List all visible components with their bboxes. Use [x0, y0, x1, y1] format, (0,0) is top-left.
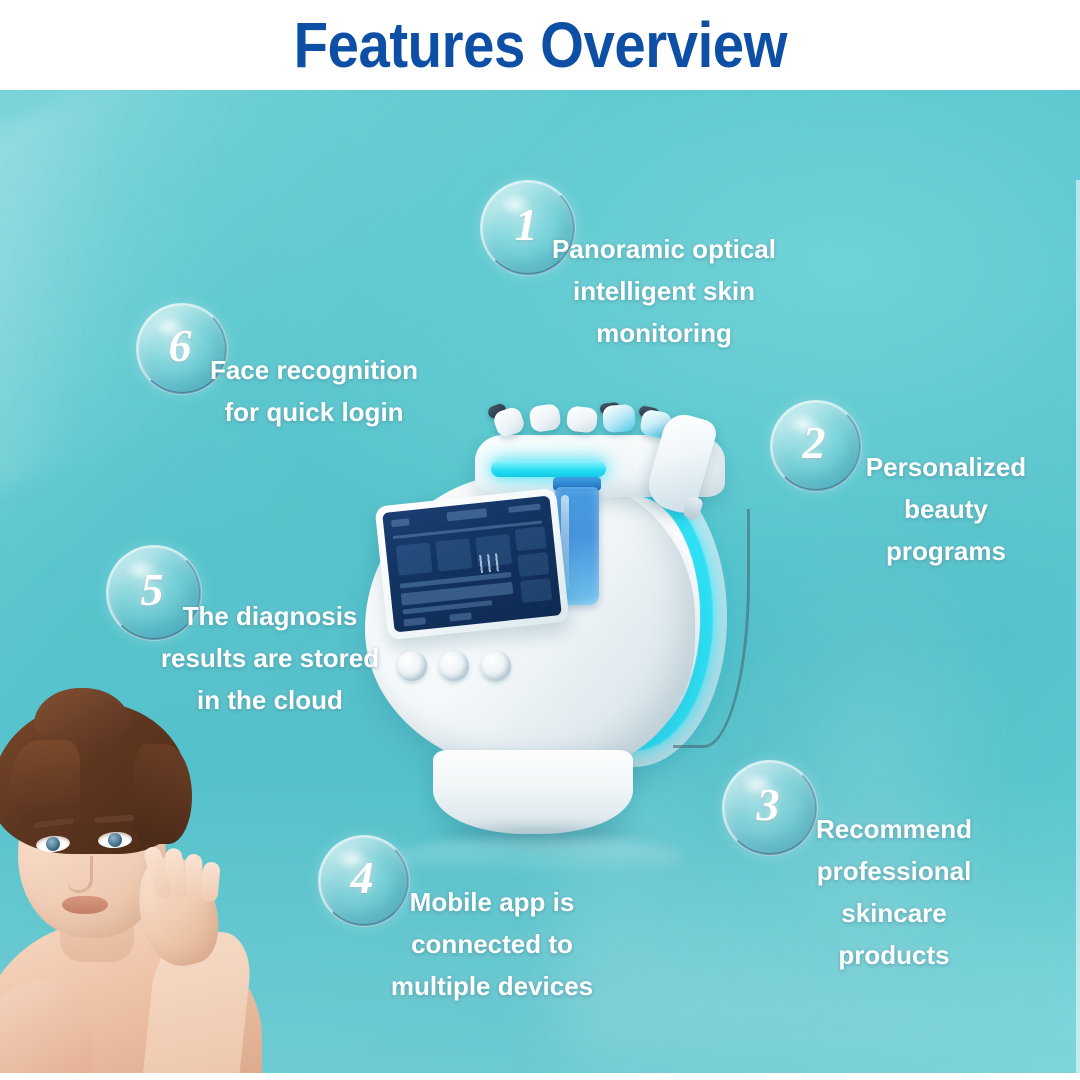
screen-waveform	[473, 551, 521, 574]
title-bar: Features Overview	[0, 0, 1080, 90]
feature-text-3: Recommend professional skincare products	[766, 808, 1022, 976]
handpiece-3	[566, 406, 598, 434]
device-floor-reflection	[395, 837, 685, 877]
model-photo	[0, 680, 362, 1073]
feature-text-2: Personalized beauty programs	[816, 446, 1076, 572]
poster-root: Features Overview	[0, 0, 1080, 1080]
screen-title-bar	[446, 508, 487, 521]
screen-tile-1	[396, 542, 433, 575]
right-edge-strip	[1076, 180, 1080, 1073]
screen-tile-4	[515, 526, 547, 551]
model-iris-left	[46, 837, 60, 851]
screen-status-left	[391, 518, 410, 527]
device-top-led-strip	[491, 461, 606, 477]
device-knob-2[interactable]	[439, 651, 469, 681]
feature-stage: 1 Panoramic optical intelligent skin mon…	[0, 90, 1080, 1073]
screen-tile-2	[435, 538, 472, 571]
feature-text-6: Face recognition for quick login	[180, 349, 448, 433]
feature-text-5: The diagnosis results are stored in the …	[128, 595, 412, 721]
page-title: Features Overview	[293, 13, 786, 77]
model-lips	[62, 896, 108, 914]
model-hair-front	[10, 740, 80, 826]
handpiece-4	[602, 404, 636, 433]
feature-text-1: Panoramic optical intelligent skin monit…	[514, 228, 814, 354]
handpiece-2	[528, 403, 561, 433]
model-finger-4	[200, 861, 220, 902]
model-iris-right	[108, 833, 122, 847]
screen-footer-button-right	[449, 612, 472, 621]
model-nose	[68, 856, 93, 893]
model-hair-side	[134, 744, 192, 844]
device-probe-cable	[673, 509, 750, 748]
bottom-edge-strip	[0, 1073, 1080, 1080]
screen-status-right	[508, 504, 540, 513]
screen-tile-6	[520, 578, 552, 603]
screen-tile-5	[517, 552, 549, 577]
beauty-device-illustration	[355, 405, 775, 905]
model-hair-bun	[34, 688, 130, 742]
device-knob-3[interactable]	[481, 651, 511, 681]
feature-text-4: Mobile app is connected to multiple devi…	[358, 881, 626, 1007]
